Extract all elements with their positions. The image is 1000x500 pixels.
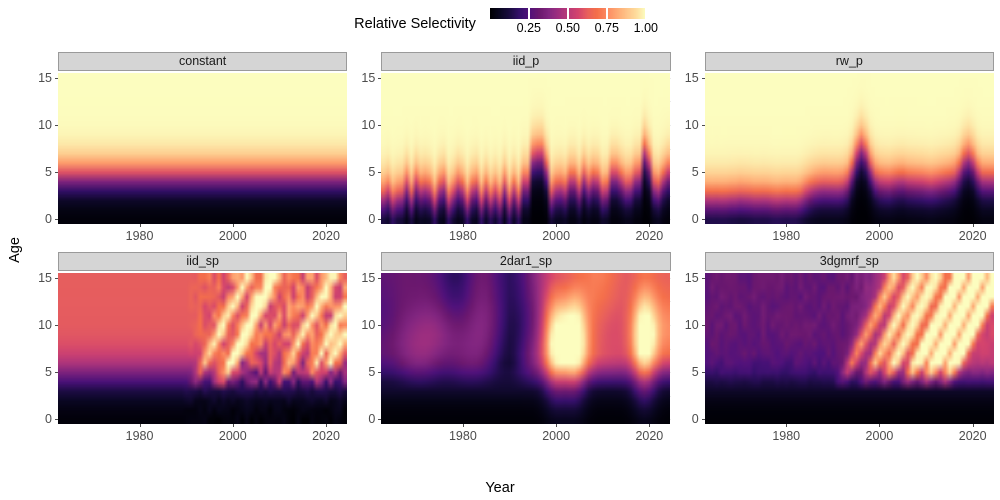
facet-strip-iid_p: iid_p [381,52,670,71]
legend-tick-label-3: 1.00 [634,21,658,35]
heatmap-iid_sp [58,273,347,424]
y-tick-mark-rw_p-1 [702,172,705,173]
x-tick-mark-rw_p-1 [879,224,880,227]
x-tick-mark-constant-2 [326,224,327,227]
x-tick-label-iid_sp-0: 1980 [126,429,154,443]
y-tick-label-constant-2: 10 [34,118,52,132]
plot-area-rw_p [705,73,994,224]
y-tick-label-rw_p-0: 0 [681,212,699,226]
y-tick-label-2dar1_sp-3: 15 [357,271,375,285]
heatmap-3dgmrf_sp [705,273,994,424]
legend-colorbar [490,8,646,19]
y-tick-mark-2dar1_sp-2 [378,325,381,326]
y-tick-label-2dar1_sp-1: 5 [357,365,375,379]
y-tick-label-3dgmrf_sp-1: 5 [681,365,699,379]
facet-panel-rw_p: rw_p [705,52,994,224]
x-tick-mark-rw_p-0 [786,224,787,227]
x-tick-label-rw_p-2: 2020 [959,229,987,243]
facet-strip-rw_p: rw_p [705,52,994,71]
x-tick-label-rw_p-0: 1980 [772,229,800,243]
x-tick-mark-constant-1 [233,224,234,227]
y-tick-mark-constant-2 [55,125,58,126]
facet-panel-grid: constant051015198020002020iid_p051015198… [0,52,1000,472]
facet-panel-3dgmrf_sp: 3dgmrf_sp [705,252,994,424]
legend-colorbar-wrap: 0.250.500.751.00 [490,8,646,39]
heatmap-iid_p [381,73,670,224]
facet-strip-label: iid_sp [186,255,219,268]
y-tick-mark-iid_p-3 [378,78,381,79]
x-tick-mark-2dar1_sp-0 [463,424,464,427]
y-tick-mark-iid_sp-0 [55,419,58,420]
facet-strip-constant: constant [58,52,347,71]
y-tick-label-iid_sp-2: 10 [34,318,52,332]
facet-panel-iid_p: iid_p [381,52,670,224]
facet-panel-constant: constant [58,52,347,224]
x-tick-mark-iid_p-1 [556,224,557,227]
x-tick-label-constant-0: 1980 [126,229,154,243]
x-tick-mark-iid_p-0 [463,224,464,227]
y-tick-mark-iid_p-1 [378,172,381,173]
y-tick-mark-constant-1 [55,172,58,173]
y-tick-mark-rw_p-2 [702,125,705,126]
x-tick-mark-3dgmrf_sp-1 [879,424,880,427]
y-tick-mark-iid_p-2 [378,125,381,126]
y-tick-label-constant-3: 15 [34,71,52,85]
x-tick-mark-constant-0 [140,224,141,227]
x-tick-label-3dgmrf_sp-0: 1980 [772,429,800,443]
y-tick-label-2dar1_sp-0: 0 [357,412,375,426]
legend-title: Relative Selectivity [354,8,476,32]
x-tick-label-iid_p-2: 2020 [635,229,663,243]
facet-panel-2dar1_sp: 2dar1_sp [381,252,670,424]
x-axis-title: Year [0,480,1000,496]
x-tick-label-3dgmrf_sp-2: 2020 [959,429,987,443]
legend-tick-labels: 0.250.500.751.00 [490,21,646,39]
facet-strip-iid_sp: iid_sp [58,252,347,271]
legend-tick-label-1: 0.50 [556,21,580,35]
facet-strip-label: rw_p [836,55,863,68]
y-tick-label-3dgmrf_sp-2: 10 [681,318,699,332]
x-tick-label-iid_p-1: 2000 [542,229,570,243]
x-tick-label-iid_p-0: 1980 [449,229,477,243]
y-tick-mark-iid_sp-1 [55,372,58,373]
y-tick-mark-iid_p-0 [378,219,381,220]
plot-area-3dgmrf_sp [705,273,994,424]
x-tick-label-3dgmrf_sp-1: 2000 [866,429,894,443]
y-tick-label-iid_sp-0: 0 [34,412,52,426]
y-tick-label-iid_sp-3: 15 [34,271,52,285]
y-tick-mark-rw_p-3 [702,78,705,79]
y-tick-mark-3dgmrf_sp-0 [702,419,705,420]
y-tick-mark-iid_sp-3 [55,278,58,279]
x-tick-mark-3dgmrf_sp-2 [973,424,974,427]
x-tick-label-iid_sp-2: 2020 [312,429,340,443]
facet-strip-label: 2dar1_sp [500,255,552,268]
y-tick-mark-iid_sp-2 [55,325,58,326]
y-tick-label-iid_p-2: 10 [357,118,375,132]
y-tick-mark-3dgmrf_sp-2 [702,325,705,326]
facet-strip-2dar1_sp: 2dar1_sp [381,252,670,271]
x-tick-label-rw_p-1: 2000 [866,229,894,243]
y-tick-label-constant-0: 0 [34,212,52,226]
y-tick-label-constant-1: 5 [34,165,52,179]
y-tick-mark-2dar1_sp-0 [378,419,381,420]
x-tick-label-constant-1: 2000 [219,229,247,243]
y-tick-mark-2dar1_sp-3 [378,278,381,279]
y-tick-label-3dgmrf_sp-0: 0 [681,412,699,426]
y-tick-mark-constant-3 [55,78,58,79]
plot-area-constant [58,73,347,224]
x-tick-mark-2dar1_sp-1 [556,424,557,427]
x-tick-mark-iid_sp-2 [326,424,327,427]
x-tick-mark-iid_sp-0 [140,424,141,427]
plot-area-iid_sp [58,273,347,424]
x-tick-label-iid_sp-1: 2000 [219,429,247,443]
y-tick-mark-2dar1_sp-1 [378,372,381,373]
facet-panel-iid_sp: iid_sp [58,252,347,424]
y-tick-label-rw_p-3: 15 [681,71,699,85]
y-tick-label-2dar1_sp-2: 10 [357,318,375,332]
x-tick-mark-rw_p-2 [973,224,974,227]
y-tick-mark-3dgmrf_sp-1 [702,372,705,373]
plot-area-iid_p [381,73,670,224]
y-tick-label-iid_p-0: 0 [357,212,375,226]
legend-tick-label-2: 0.75 [595,21,619,35]
x-tick-label-constant-2: 2020 [312,229,340,243]
legend: Relative Selectivity 0.250.500.751.00 [0,8,1000,52]
x-tick-label-2dar1_sp-1: 2000 [542,429,570,443]
y-tick-label-iid_p-1: 5 [357,165,375,179]
facet-strip-label: iid_p [513,55,539,68]
heatmap-constant [58,73,347,224]
facet-strip-3dgmrf_sp: 3dgmrf_sp [705,252,994,271]
y-tick-label-rw_p-1: 5 [681,165,699,179]
x-tick-mark-2dar1_sp-2 [649,424,650,427]
heatmap-rw_p [705,73,994,224]
x-tick-mark-iid_sp-1 [233,424,234,427]
y-tick-mark-constant-0 [55,219,58,220]
figure-root: Relative Selectivity 0.250.500.751.00 co… [0,0,1000,500]
legend-tick-label-0: 0.25 [517,21,541,35]
y-tick-label-iid_p-3: 15 [357,71,375,85]
y-axis-title: Age [7,237,23,263]
x-tick-mark-3dgmrf_sp-0 [786,424,787,427]
y-tick-label-3dgmrf_sp-3: 15 [681,271,699,285]
y-tick-mark-rw_p-0 [702,219,705,220]
x-tick-label-2dar1_sp-2: 2020 [635,429,663,443]
heatmap-2dar1_sp [381,273,670,424]
x-tick-label-2dar1_sp-0: 1980 [449,429,477,443]
x-tick-mark-iid_p-2 [649,224,650,227]
facet-strip-label: 3dgmrf_sp [820,255,879,268]
facet-strip-label: constant [179,55,226,68]
y-tick-label-iid_sp-1: 5 [34,365,52,379]
y-tick-mark-3dgmrf_sp-3 [702,278,705,279]
y-tick-label-rw_p-2: 10 [681,118,699,132]
plot-area-2dar1_sp [381,273,670,424]
